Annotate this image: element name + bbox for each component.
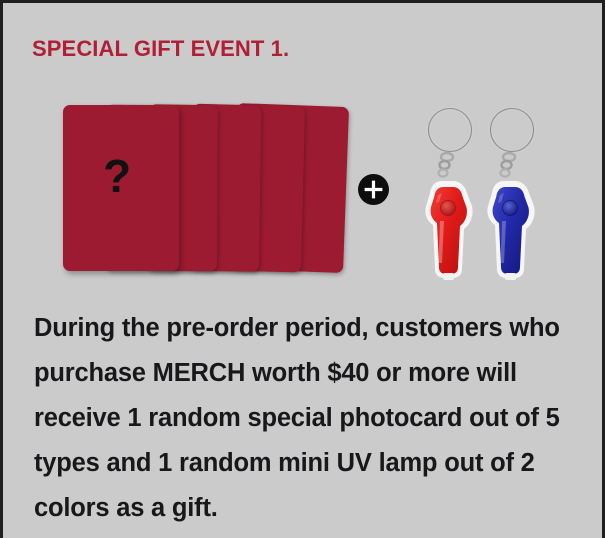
plus-icon: [358, 174, 389, 205]
mini-uv-lamp-blue: [477, 101, 547, 285]
question-mark-icon: ?: [103, 153, 131, 199]
gift-illustration-row: ?: [3, 99, 605, 289]
promo-banner: SPECIAL GIFT EVENT 1. ?: [0, 0, 605, 538]
keychain-group: [411, 101, 559, 285]
photocard-stack: ?: [63, 105, 339, 281]
mini-uv-lamp-red: [415, 101, 485, 285]
photocard-1-front: ?: [63, 105, 179, 271]
page-title: SPECIAL GIFT EVENT 1.: [32, 36, 289, 62]
event-description: During the pre-order period, customers w…: [34, 306, 579, 531]
